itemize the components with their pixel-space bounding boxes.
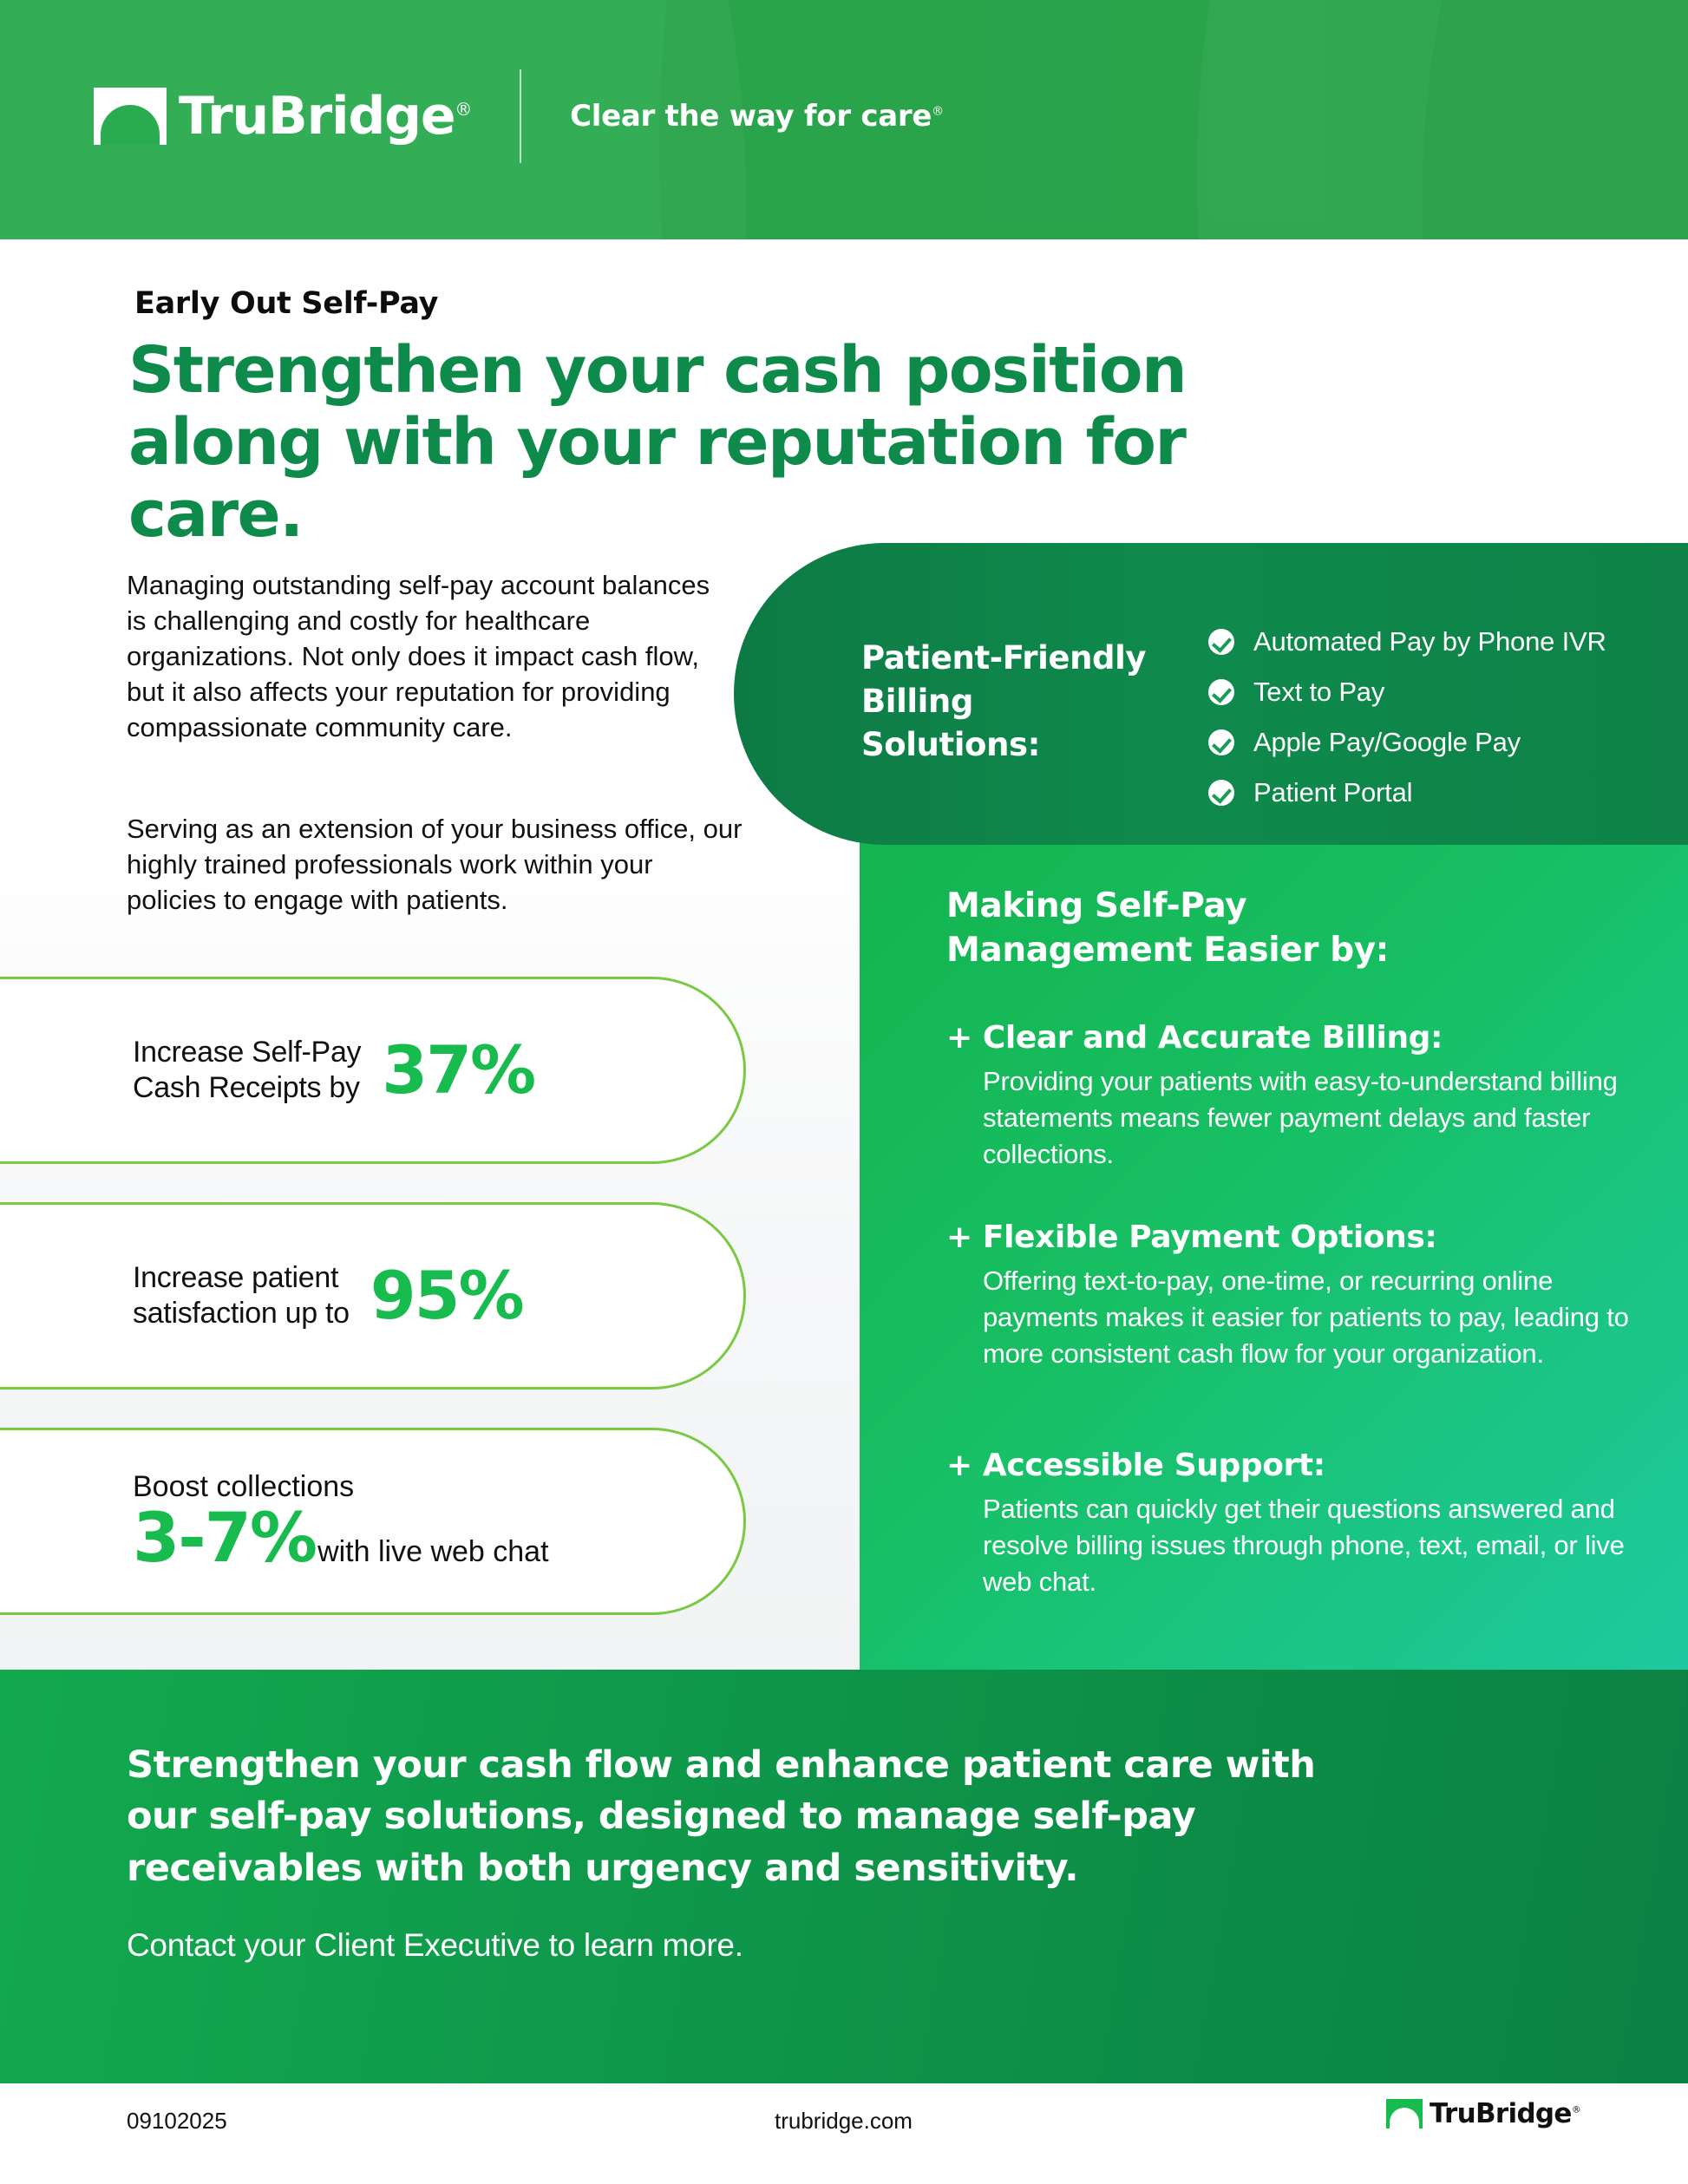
feature-item: + Clear and Accurate Billing: Providing … [946, 1019, 1640, 1173]
check-circle-icon [1208, 629, 1234, 655]
list-item-label: Text to Pay [1253, 677, 1384, 708]
intro-paragraph-1: Managing outstanding self-pay account ba… [127, 568, 734, 746]
stat-value-row: 3-7% with live web chat [133, 1505, 549, 1573]
list-item: Patient Portal [1208, 777, 1606, 808]
stat-pill: Increase patient satisfaction up to 95% [0, 1202, 746, 1390]
list-item-label: Apple Pay/Google Pay [1253, 727, 1521, 758]
logo-wordmark-text: TruBridge [179, 86, 455, 147]
management-easier-title-line-2: Management Easier by: [946, 931, 1389, 970]
check-circle-icon [1208, 780, 1234, 806]
brand-tagline-text: Clear the way for care [570, 99, 932, 134]
stat-label-line-2: Cash Receipts by [133, 1071, 360, 1104]
stat-row: Boost collections 3-7% with live web cha… [133, 1470, 549, 1572]
stat-row: Increase Self-Pay Cash Receipts by 37% [133, 1035, 534, 1106]
logo-wordmark: TruBridge® [179, 90, 471, 142]
billing-solutions-title-line-2: Billing Solutions: [861, 683, 1040, 763]
brand-tagline: Clear the way for care® [570, 99, 944, 134]
footer-logo-registered-mark: ® [1572, 2103, 1580, 2115]
list-item-label: Patient Portal [1253, 777, 1412, 808]
management-easier-title-line-1: Making Self-Pay [946, 886, 1246, 925]
footer-logo-wordmark-text: TruBridge [1430, 2098, 1572, 2129]
stat-label-line-2: satisfaction up to [133, 1297, 350, 1330]
cta-subtext: Contact your Client Executive to learn m… [127, 1927, 743, 1964]
intro-paragraph-2: Serving as an extension of your business… [127, 812, 743, 919]
stat-value: 95% [370, 1263, 523, 1329]
stat-value: 37% [382, 1037, 534, 1103]
header-decorative-arc-3 [1197, 0, 1688, 239]
management-easier-title: Making Self-Pay Management Easier by: [946, 884, 1397, 973]
logo-registered-mark: ® [455, 99, 471, 120]
feature-item: + Flexible Payment Options: Offering tex… [946, 1219, 1640, 1372]
stat-label: Increase Self-Pay Cash Receipts by [133, 1035, 361, 1106]
stat-pill-content: Increase Self-Pay Cash Receipts by 37% [133, 1035, 534, 1106]
footer-trubridge-logo[interactable]: TruBridge® [1386, 2099, 1580, 2128]
feature-heading: + Flexible Payment Options: [946, 1219, 1640, 1256]
feature-heading: + Accessible Support: [946, 1447, 1640, 1484]
bridge-arch-icon [94, 88, 167, 145]
feature-item: + Accessible Support: Patients can quick… [946, 1447, 1640, 1600]
list-item: Automated Pay by Phone IVR [1208, 626, 1606, 657]
billing-solutions-title: Patient-Friendly Billing Solutions: [861, 637, 1148, 767]
cta-headline: Strengthen your cash flow and enhance pa… [127, 1740, 1358, 1894]
bridge-arch-icon [1386, 2099, 1423, 2128]
billing-solutions-title-line-1: Patient-Friendly [861, 639, 1146, 677]
stat-pill-content: Boost collections 3-7% with live web cha… [133, 1470, 549, 1572]
stat-row: Increase patient satisfaction up to 95% [133, 1260, 523, 1331]
stat-label-line-1: Increase Self-Pay [133, 1036, 361, 1069]
list-item-label: Automated Pay by Phone IVR [1253, 626, 1606, 657]
stat-value-suffix: with live web chat [317, 1535, 548, 1569]
stat-pill: Boost collections 3-7% with live web cha… [0, 1428, 746, 1615]
feature-body: Offering text-to-pay, one-time, or recur… [983, 1263, 1640, 1372]
stat-value: 3-7% [133, 1505, 316, 1573]
page-title: Strengthen your cash position along with… [128, 335, 1360, 551]
billing-solutions-list: Automated Pay by Phone IVR Text to Pay A… [1208, 626, 1606, 827]
check-circle-icon [1208, 729, 1234, 755]
tagline-registered-mark: ® [932, 105, 944, 119]
stat-label-line-1: Increase patient [133, 1261, 338, 1294]
footer-website-link[interactable]: trubridge.com [775, 2108, 913, 2135]
list-item: Apple Pay/Google Pay [1208, 727, 1606, 758]
feature-body: Patients can quickly get their questions… [983, 1491, 1640, 1600]
check-circle-icon [1208, 679, 1234, 705]
eyebrow-label: Early Out Self-Pay [134, 286, 438, 321]
page-header: TruBridge® Clear the way for care® [0, 0, 1688, 239]
feature-heading: + Clear and Accurate Billing: [946, 1019, 1640, 1056]
feature-body: Providing your patients with easy-to-und… [983, 1063, 1640, 1173]
stat-label: Increase patient satisfaction up to [133, 1260, 350, 1331]
list-item: Text to Pay [1208, 677, 1606, 708]
footer-date-code: 09102025 [127, 2108, 227, 2135]
logo-divider [520, 69, 521, 163]
footer-logo-wordmark: TruBridge® [1430, 2101, 1580, 2128]
trubridge-logo[interactable]: TruBridge® Clear the way for care® [94, 69, 944, 163]
stat-pill-content: Increase patient satisfaction up to 95% [133, 1260, 523, 1331]
stat-pill: Increase Self-Pay Cash Receipts by 37% [0, 977, 746, 1164]
header-decorative-arc-4 [1423, 0, 1688, 239]
